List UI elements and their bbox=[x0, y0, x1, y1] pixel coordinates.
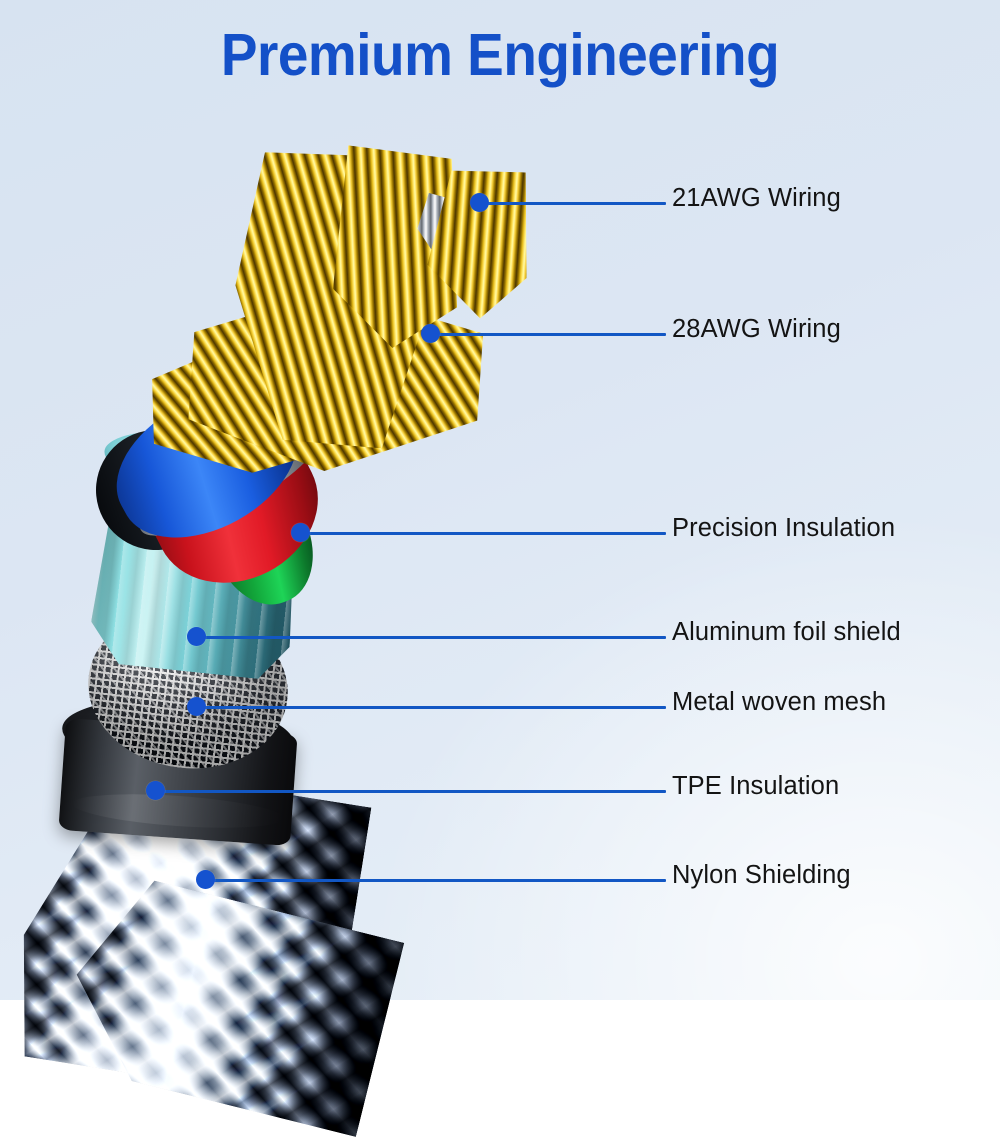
callout-leader-line bbox=[196, 636, 666, 639]
callout-dot-icon bbox=[187, 697, 206, 716]
callout-dot-icon bbox=[196, 870, 215, 889]
callout-dot-icon bbox=[187, 627, 206, 646]
callout-leader-line bbox=[300, 532, 666, 535]
callout-label: Metal woven mesh bbox=[672, 688, 886, 717]
callout-leader-line bbox=[430, 333, 666, 336]
callout-dot-icon bbox=[146, 781, 165, 800]
callout-label: 21AWG Wiring bbox=[672, 184, 841, 213]
callout-leader-line bbox=[155, 790, 666, 793]
callout-label: TPE Insulation bbox=[672, 772, 839, 801]
callout-label: Precision Insulation bbox=[672, 514, 895, 543]
callout-label: Aluminum foil shield bbox=[672, 618, 901, 647]
callout-label: 28AWG Wiring bbox=[672, 315, 841, 344]
callout-label: Nylon Shielding bbox=[672, 861, 851, 890]
callout-dot-icon bbox=[470, 193, 489, 212]
callout-dot-icon bbox=[291, 523, 310, 542]
callout-leader-line bbox=[205, 879, 666, 882]
cable-illustration bbox=[0, 0, 660, 1000]
callout-dot-icon bbox=[421, 324, 440, 343]
infographic-canvas: Premium Engineering 21AWG Wiring28AWG Wi… bbox=[0, 0, 1000, 1000]
callout-leader-line bbox=[479, 202, 666, 205]
callout-leader-line bbox=[196, 706, 666, 709]
